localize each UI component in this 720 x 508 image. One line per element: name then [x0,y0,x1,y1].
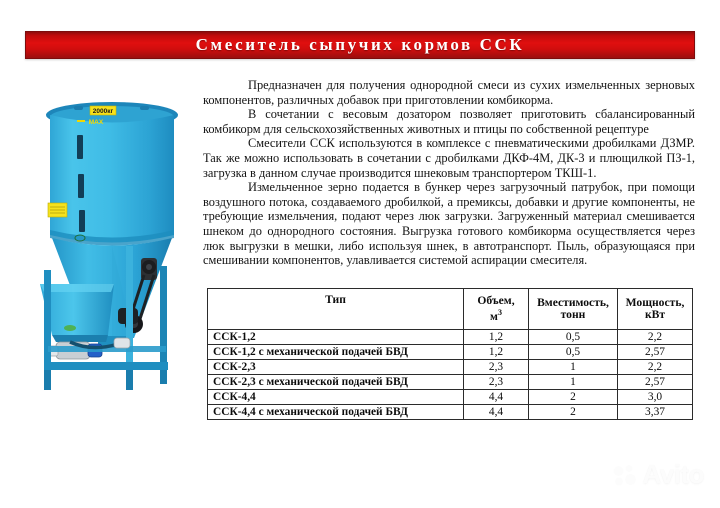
cell-type: ССК-1,2 [208,330,464,345]
table-row: ССК-2,3 2,3 1 2,2 [208,360,693,375]
cell-capacity: 2 [529,390,618,405]
cell-capacity: 2 [529,405,618,420]
avito-watermark: Avito [612,459,704,490]
cell-volume: 4,4 [464,390,529,405]
paragraph-4: Измельченное зерно подается в бункер чер… [203,180,695,268]
svg-text:MAX: MAX [89,119,104,126]
cell-type: ССК-2,3 [208,360,464,375]
header-power: Мощность, кВт [618,289,693,330]
table-row: ССК-4,4 4,4 2 3,0 [208,390,693,405]
page-root: Смеситель сыпучих кормов ССК [0,0,720,508]
cell-power: 2,2 [618,360,693,375]
table-row: ССК-1,2 с механической подачей БВД 1,2 0… [208,345,693,360]
inspection-slot [79,210,85,232]
specifications-table: Тип Объем, м3 Вместимость, тонн Мощность… [207,288,693,420]
table-row: ССК-2,3 с механической подачей БВД 2,3 1… [208,375,693,390]
cell-power: 2,57 [618,375,693,390]
cell-volume: 2,3 [464,375,529,390]
table-header-row: Тип Объем, м3 Вместимость, тонн Мощность… [208,289,693,330]
cell-type: ССК-4,4 с механической подачей БВД [208,405,464,420]
tank-body [50,115,174,243]
header-type: Тип [208,289,464,330]
cell-volume: 1,2 [464,330,529,345]
paragraph-1: Предназначен для получения однородной см… [203,78,695,107]
inspection-slot [77,135,83,159]
title-banner: Смеситель сыпучих кормов ССК [25,31,695,59]
cell-type: ССК-4,4 [208,390,464,405]
cell-power: 2,57 [618,345,693,360]
avito-logo-icon [612,462,638,488]
cell-capacity: 0,5 [529,330,618,345]
cell-volume: 4,4 [464,405,529,420]
frame-post [160,266,167,374]
header-volume: Объем, м3 [464,289,529,330]
paragraph-2: В сочетании с весовым дозатором позволяе… [203,107,695,136]
header-capacity-line2: тонн [561,308,586,321]
avito-watermark-text: Avito [642,459,704,490]
cell-capacity: 1 [529,375,618,390]
header-volume-sup: 3 [498,308,502,317]
header-capacity: Вместимость, тонн [529,289,618,330]
frame-beam [44,362,168,370]
cell-power: 2,2 [618,330,693,345]
description-text: Предназначен для получения однородной см… [203,78,695,268]
header-power-line2: кВт [645,308,665,321]
cell-power: 3,37 [618,405,693,420]
inspection-slot [78,174,84,198]
table-header: Тип Объем, м3 Вместимость, тонн Мощность… [208,289,693,330]
header-capacity-line1: Вместимость, [537,296,609,309]
cell-power: 3,0 [618,390,693,405]
table-body: ССК-1,2 1,2 0,5 2,2 ССК-1,2 с механическ… [208,330,693,420]
header-volume-line1: Объем, [477,294,514,307]
cell-capacity: 0,5 [529,345,618,360]
page-title: Смеситель сыпучих кормов ССК [196,35,525,55]
cell-volume: 1,2 [464,345,529,360]
mixer-illustration: 2000кг MAX [22,70,202,442]
cell-capacity: 1 [529,360,618,375]
cell-volume: 2,3 [464,360,529,375]
svg-text:2000кг: 2000кг [93,108,114,115]
table-row: ССК-1,2 1,2 0,5 2,2 [208,330,693,345]
header-power-line1: Мощность, [626,296,685,309]
mixer-photo: 2000кг MAX [22,70,202,442]
cell-type: ССК-1,2 с механической подачей БВД [208,345,464,360]
table-row: ССК-4,4 с механической подачей БВД 4,4 2… [208,405,693,420]
cell-type: ССК-2,3 с механической подачей БВД [208,375,464,390]
header-volume-line2: м [490,310,498,323]
paragraph-3: Смесители ССК используются в комплексе с… [203,136,695,180]
